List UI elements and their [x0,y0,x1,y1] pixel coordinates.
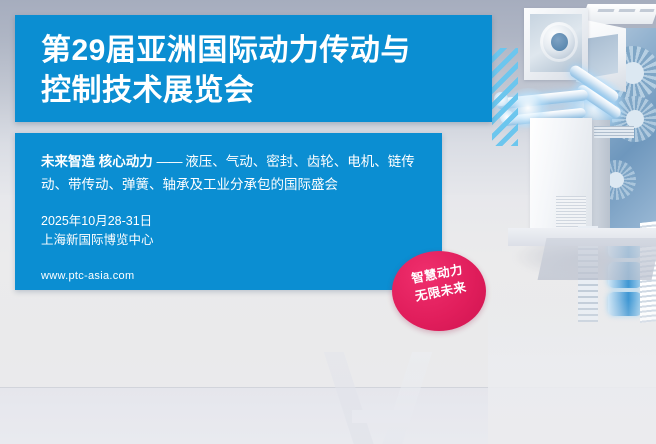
tagline-dash: —— [157,154,182,169]
details-panel: 未来智造 核心动力 —— 液压、气动、密封、齿轮、电机、链传动、带传动、弹簧、轴… [15,133,442,290]
diagonal-stripes-decoration [492,48,518,146]
page-title: 第29届亚洲国际动力传动与 控制技术展览会 [41,31,481,111]
machine-brace-cutout [588,34,618,78]
gear-hub [608,172,624,188]
machine-fade-overlay [488,300,656,444]
event-venue: 上海新国际博览中心 [41,233,154,247]
machine-flange-core [551,33,568,51]
tagline-rest-line-2: 带传动、弹簧、轴承及工业分承包的国际盛会 [68,177,338,192]
machine-side-panel [590,120,610,240]
machine-louvre [639,9,654,12]
tagline: 未来智造 核心动力 —— 液压、气动、密封、齿轮、电机、链传动、带传动、弹簧、轴… [41,150,433,196]
letter-a-watermark [300,352,490,444]
title-line-1: 第29届亚洲国际动力传动与 [41,31,481,71]
status-badge: 智慧动力 无限未来 [392,251,486,331]
machine-detail-stripes [594,126,634,138]
badge-text: 智慧动力 无限未来 [398,258,479,308]
machine-louvre [597,9,614,12]
event-meta: 2025年10月28-31日 上海新国际博览中心 [41,212,433,250]
watermark-stroke-right [380,352,432,444]
event-promo-banner: 第29届亚洲国际动力传动与 控制技术展览会 未来智造 核心动力 —— 液压、气动… [0,0,656,444]
event-dates: 2025年10月28-31日 [41,214,152,228]
title-line-2: 控制技术展览会 [41,71,481,111]
tagline-highlight: 未来智造 核心动力 [41,154,153,169]
event-website-url[interactable]: www.ptc-asia.com [41,270,433,282]
title-panel: 第29届亚洲国际动力传动与 控制技术展览会 [15,15,492,122]
machine-top-lid [580,4,656,24]
watermark-crossbar [352,410,410,423]
machine-louvre [618,9,635,12]
details-content: 未来智造 核心动力 —— 液压、气动、密封、齿轮、电机、链传动、带传动、弹簧、轴… [41,150,433,282]
watermark-stroke-left [324,352,376,444]
machine-plinth [538,238,656,280]
